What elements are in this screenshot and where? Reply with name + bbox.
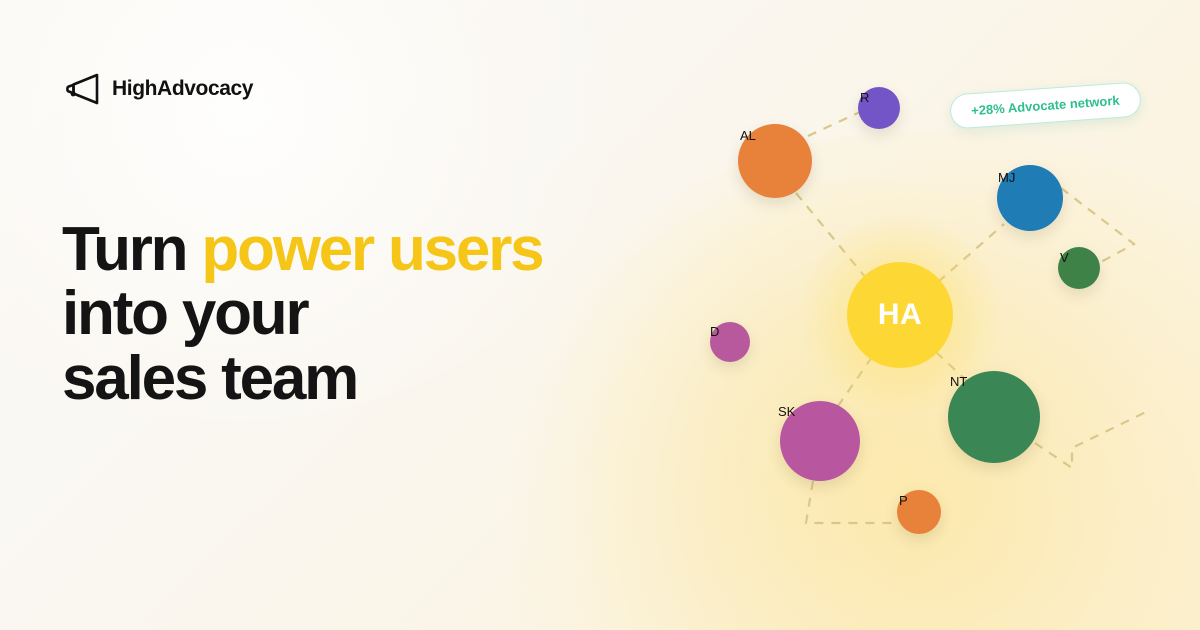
headline-line-2: into your — [62, 282, 542, 346]
network-node-mj-label: MJ — [998, 170, 1015, 185]
headline-line-3: sales team — [62, 347, 542, 411]
headline-line-1-plain: Turn — [62, 215, 201, 284]
megaphone-icon — [64, 72, 102, 106]
network-node-sk-label: SK — [778, 404, 795, 419]
network-node-r-label: R — [860, 90, 869, 105]
brand-name: HighAdvocacy — [112, 77, 253, 101]
link-al-r — [808, 112, 860, 136]
network-hub-label: HA — [878, 298, 922, 332]
brand-logo[interactable]: HighAdvocacy — [64, 72, 253, 106]
headline-highlight: power users — [201, 215, 542, 284]
headline-line-1: Turn power users — [62, 218, 542, 282]
link-nt-right — [1035, 410, 1150, 468]
network-node-d-label: D — [710, 324, 719, 339]
link-sk-p — [806, 481, 896, 523]
page-title: Turn power users into your sales team — [62, 218, 542, 411]
network-node-al-label: AL — [740, 128, 756, 143]
network-node-p-label: P — [899, 493, 908, 508]
network-node-v-label: V — [1060, 250, 1069, 265]
network-node-nt-label: NT — [950, 374, 967, 389]
network-hub-node[interactable]: HA — [847, 262, 953, 368]
